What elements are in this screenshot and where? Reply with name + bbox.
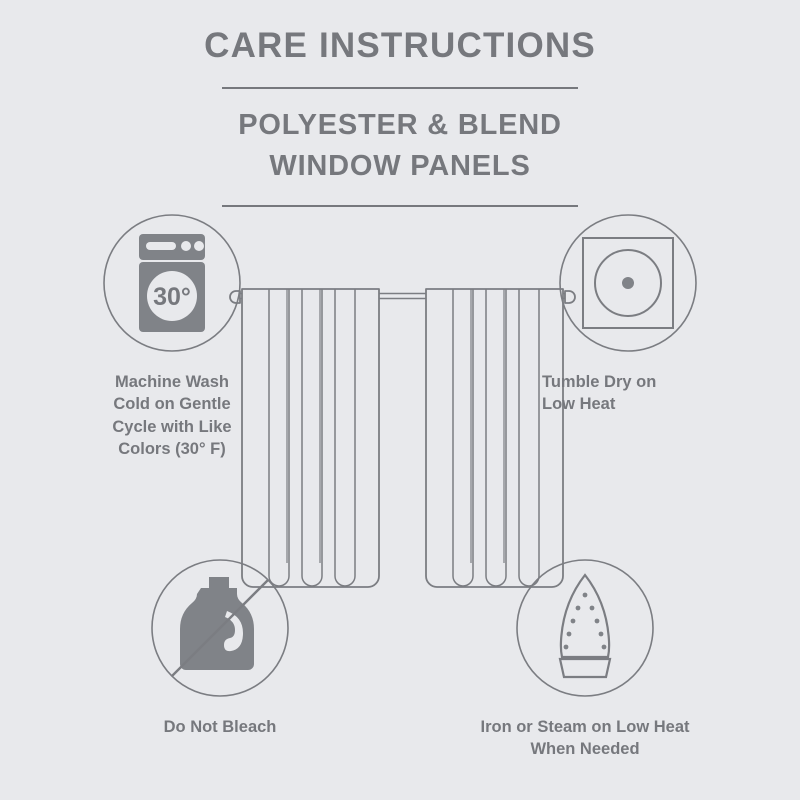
caption-line: Cold on Gentle [42,393,302,415]
instruction-tumble-dry: Tumble Dry on Low Heat [498,208,758,416]
caption-line: Iron or Steam on Low Heat [455,716,715,738]
care-instructions-infographic: CARE INSTRUCTIONS POLYESTER & BLEND WIND… [0,0,800,800]
detergent-slot [146,242,176,250]
instruction-machine-wash: 30° Machine Wash Cold on Gentle Cycle wi… [42,208,302,460]
caption-line: Cycle with Like [42,416,302,438]
caption-line: Machine Wash [42,371,302,393]
washing-machine-icon: 30° [97,208,247,358]
subtitle-divider [222,205,578,207]
iron-soleplate [561,575,609,657]
page-title: CARE INSTRUCTIONS [0,0,800,66]
caption-line: Do Not Bleach [90,716,350,738]
low-heat-dot [622,277,634,289]
caption-line: Tumble Dry on [542,371,758,393]
subtitle-line-1: POLYESTER & BLEND [238,109,562,141]
caption-machine-wash: Machine Wash Cold on Gentle Cycle with L… [42,371,302,460]
subtitle-line-2: WINDOW PANELS [0,146,800,187]
iron-icon [510,553,660,703]
iron-base [560,659,610,677]
caption-line: Colors (30° F) [42,438,302,460]
instruction-do-not-bleach: Do Not Bleach [90,553,350,738]
machine-knob-1 [181,241,191,251]
header: CARE INSTRUCTIONS POLYESTER & BLEND WIND… [0,0,800,207]
icon-ring [517,560,653,696]
tumble-dry-low-icon [553,208,703,358]
caption-do-not-bleach: Do Not Bleach [90,716,350,738]
no-bleach-icon [145,553,295,703]
caption-line: When Needed [455,738,715,760]
caption-tumble-dry: Tumble Dry on Low Heat [498,371,758,416]
instruction-iron: Iron or Steam on Low Heat When Needed [455,553,715,761]
caption-line: Low Heat [542,393,758,415]
caption-iron: Iron or Steam on Low Heat When Needed [455,716,715,761]
wash-temperature-label: 30° [153,283,191,311]
machine-knob-2 [194,241,204,251]
page-subtitle: POLYESTER & BLEND WINDOW PANELS [0,89,800,187]
